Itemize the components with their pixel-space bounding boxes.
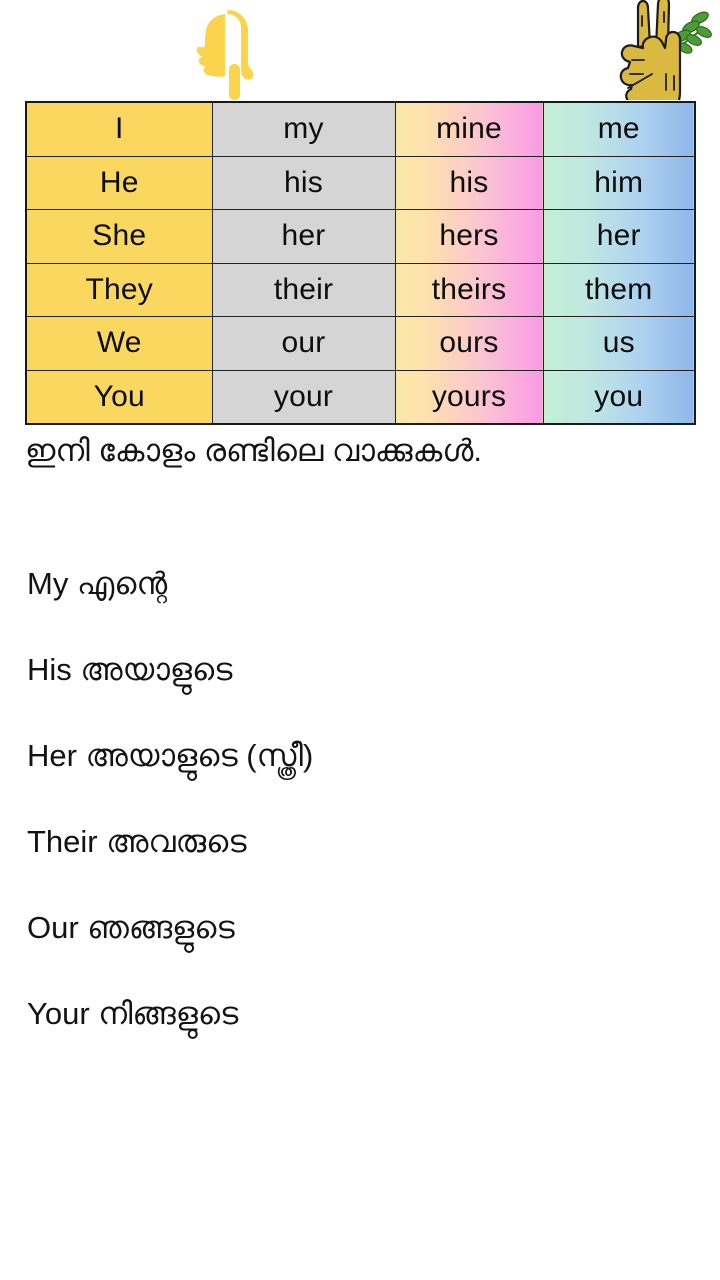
list-item: Your നിങ്ങളുടെ	[27, 992, 687, 1078]
cell-subject: You	[26, 370, 212, 424]
cell-object: them	[543, 263, 695, 317]
word-malayalam: അയാളുടെ	[80, 652, 232, 687]
cell-possessive-adjective: our	[212, 317, 395, 371]
list-item: My എന്റെ	[27, 562, 687, 648]
cell-object: me	[543, 102, 695, 156]
word-english: Their	[27, 824, 106, 859]
intro-sentence: ഇനി കോളം രണ്ടിലെ വാക്കുകൾ.	[25, 432, 482, 471]
cell-possessive-pronoun: his	[395, 156, 543, 210]
cell-possessive-adjective: his	[212, 156, 395, 210]
table-row: I my mine me	[26, 102, 695, 156]
word-malayalam: ഞങ്ങളുടെ	[87, 910, 234, 945]
table-row: You your yours you	[26, 370, 695, 424]
word-malayalam: അവരുടെ	[106, 824, 246, 859]
list-item: Their അവരുടെ	[27, 820, 687, 906]
top-icon-layer	[0, 0, 720, 101]
cell-object: him	[543, 156, 695, 210]
pronoun-table-body: I my mine me He his his him She her hers…	[26, 102, 695, 424]
pronoun-table: I my mine me He his his him She her hers…	[25, 101, 696, 425]
cell-object: her	[543, 210, 695, 264]
cell-subject: We	[26, 317, 212, 371]
table-row: She her hers her	[26, 210, 695, 264]
cell-possessive-pronoun: yours	[395, 370, 543, 424]
word-english: His	[27, 652, 80, 687]
table-row: We our ours us	[26, 317, 695, 371]
cell-possessive-pronoun: hers	[395, 210, 543, 264]
pointing-down-hand-icon	[191, 8, 265, 102]
cell-object: you	[543, 370, 695, 424]
list-item: Our ഞങ്ങളുടെ	[27, 906, 687, 992]
cell-subject: She	[26, 210, 212, 264]
cell-object: us	[543, 317, 695, 371]
cell-possessive-adjective: your	[212, 370, 395, 424]
cell-possessive-pronoun: theirs	[395, 263, 543, 317]
word-translation-list: My എന്റെ His അയാളുടെ Her അയാളുടെ (സ്ത്രീ…	[27, 562, 687, 1078]
cell-possessive-adjective: my	[212, 102, 395, 156]
word-malayalam: എന്റെ	[77, 566, 167, 601]
word-english: Her	[27, 738, 86, 773]
cell-subject: They	[26, 263, 212, 317]
cell-subject: He	[26, 156, 212, 210]
list-item: Her അയാളുടെ (സ്ത്രീ)	[27, 734, 687, 820]
word-malayalam: നിങ്ങളുടെ	[98, 996, 238, 1031]
table-row: They their theirs them	[26, 263, 695, 317]
cell-possessive-adjective: her	[212, 210, 395, 264]
cell-possessive-pronoun: ours	[395, 317, 543, 371]
peace-hand-olive-branch-icon	[608, 0, 712, 100]
table-row: He his his him	[26, 156, 695, 210]
word-english: Our	[27, 910, 87, 945]
word-english: Your	[27, 996, 98, 1031]
word-malayalam: അയാളുടെ (സ്ത്രീ)	[86, 738, 314, 773]
cell-possessive-adjective: their	[212, 263, 395, 317]
cell-possessive-pronoun: mine	[395, 102, 543, 156]
word-english: My	[27, 566, 77, 601]
list-item: His അയാളുടെ	[27, 648, 687, 734]
cell-subject: I	[26, 102, 212, 156]
